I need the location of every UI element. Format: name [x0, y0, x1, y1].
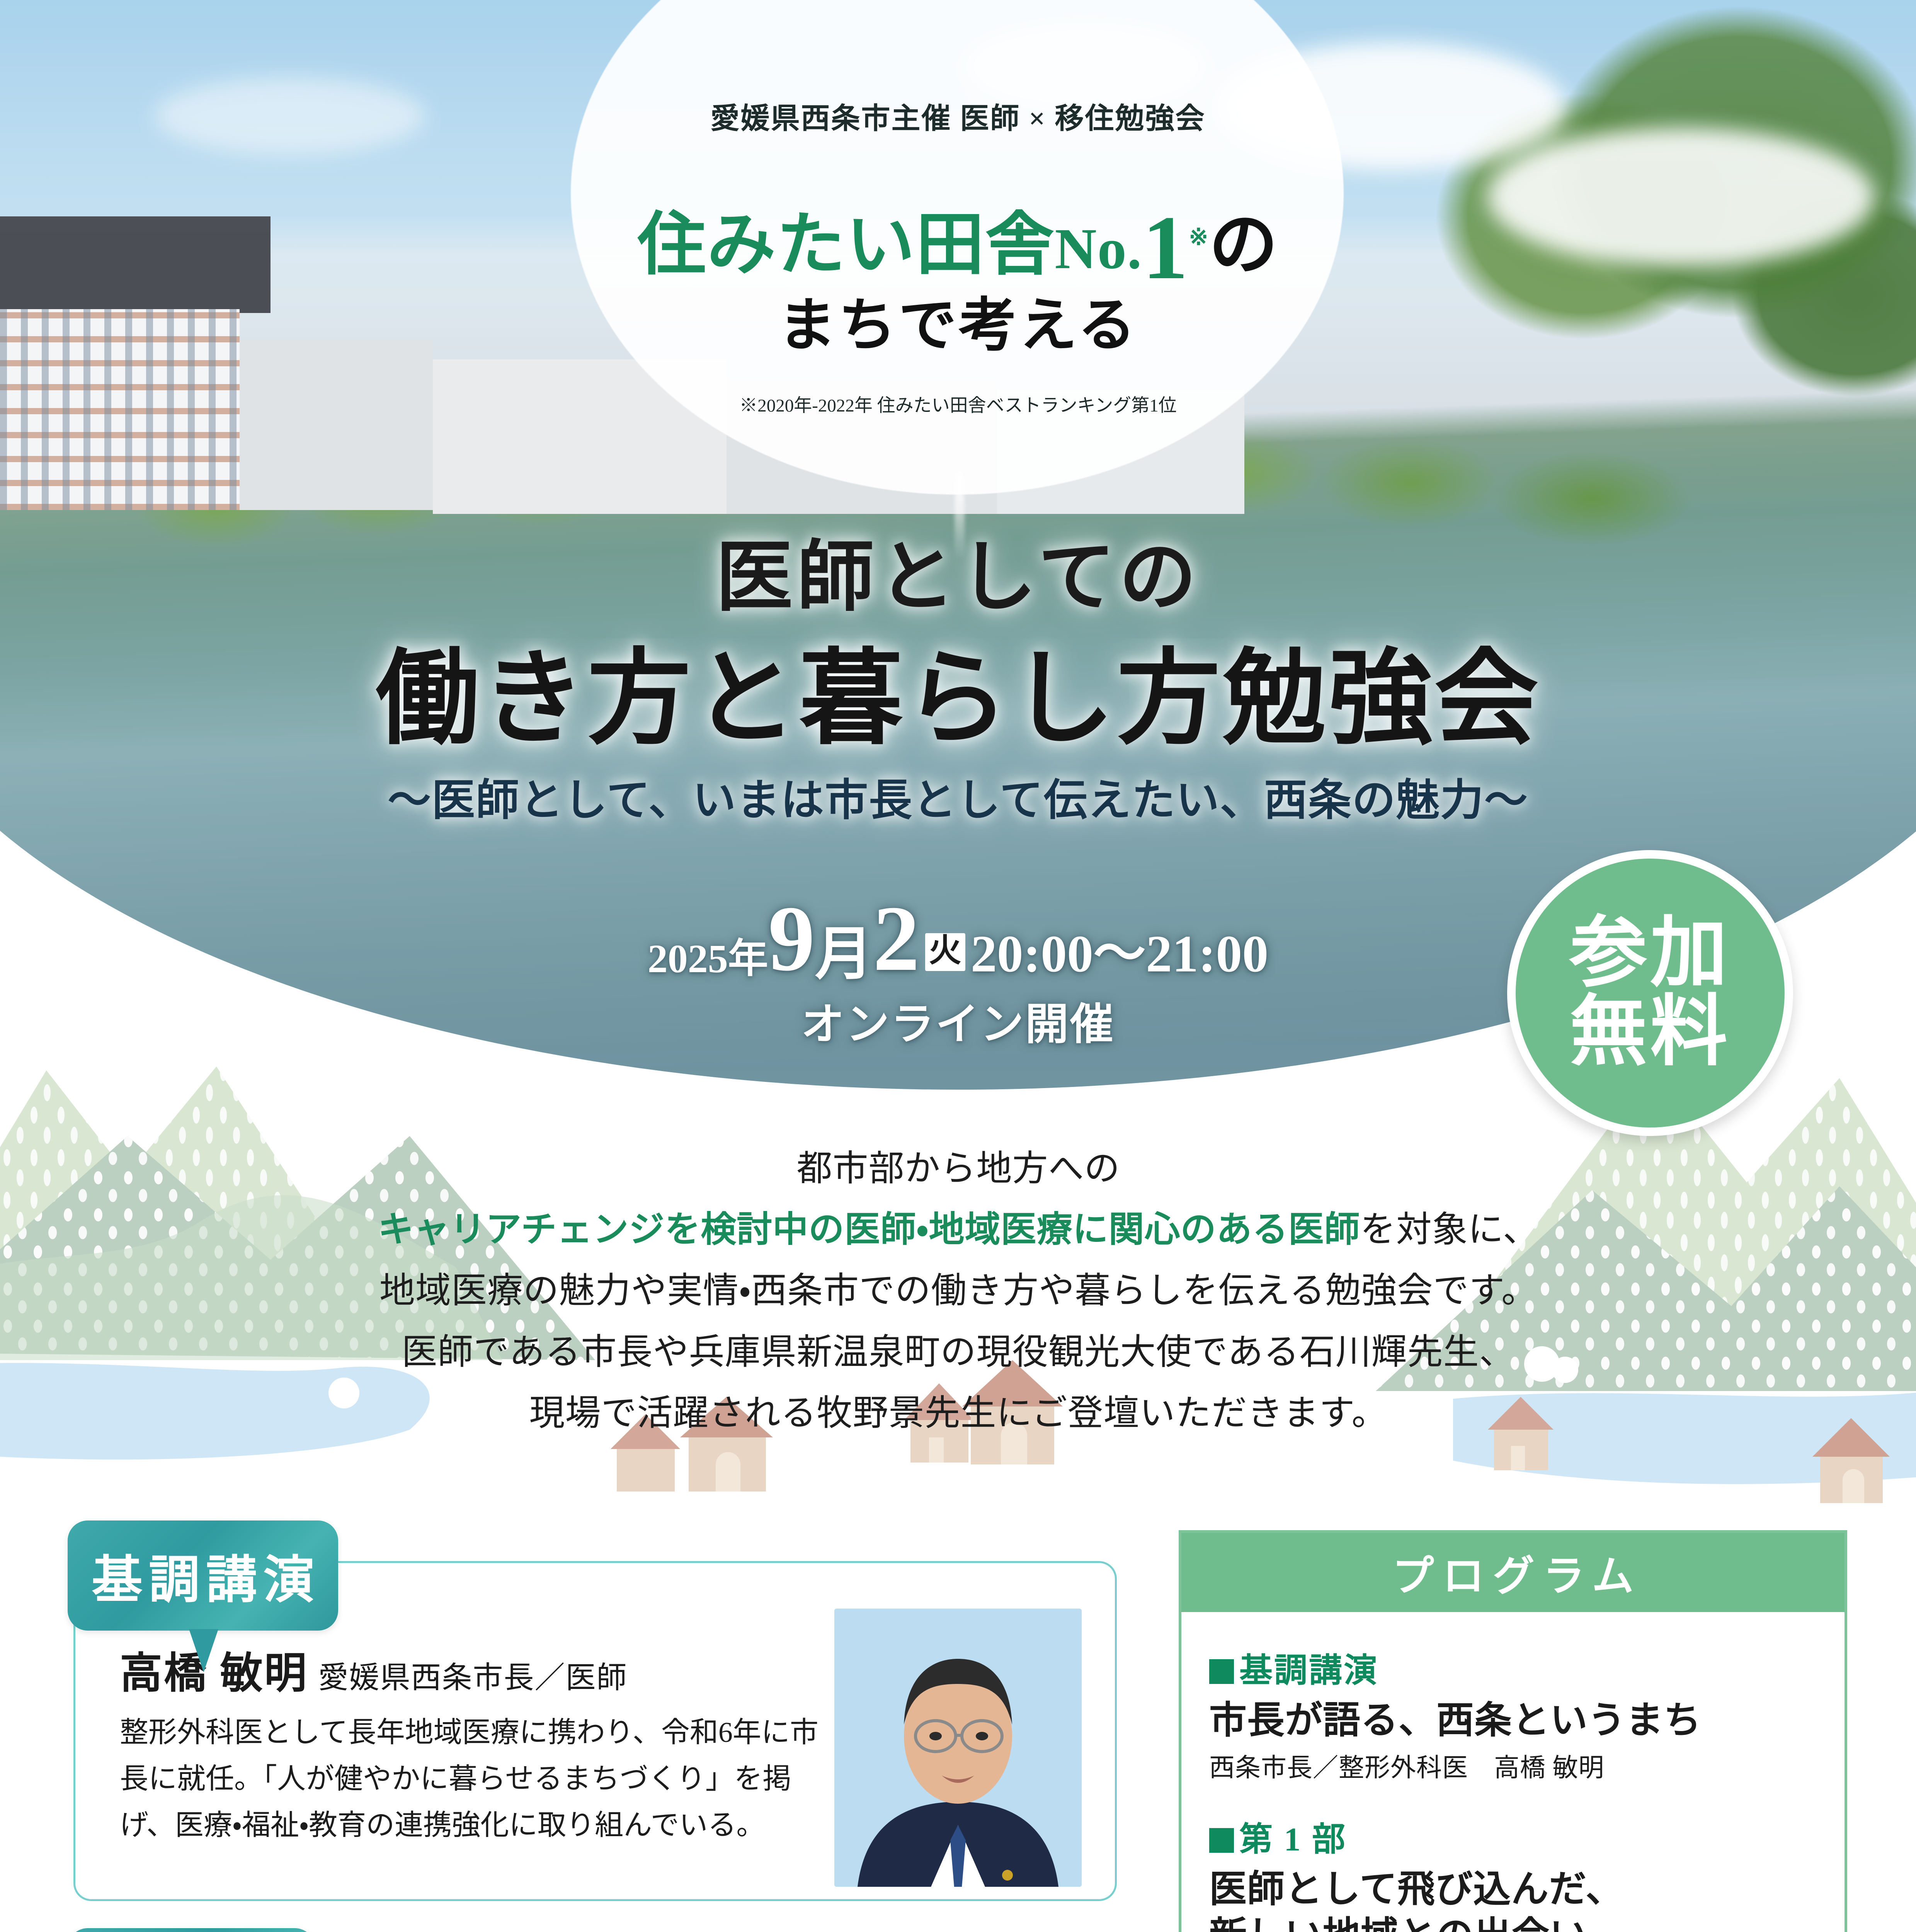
portrait-photo	[834, 1609, 1082, 1887]
speaker-tag-keynote: 基調講演	[68, 1520, 338, 1631]
square-bullet-icon	[1209, 1828, 1234, 1853]
speaker-card-keynote: 基調講演 高橋 敏明愛媛県西条市長／医師 整形外科医として長年地域医療に携わり、…	[73, 1561, 1117, 1901]
event-weekday: 火	[925, 933, 965, 971]
speaker-portrait-takahashi	[834, 1609, 1082, 1887]
event-month-number: 9	[768, 887, 815, 990]
program-body: 基調講演 市長が語る、西条というまち 西条市長／整形外科医 高橋 敏明 第 1 …	[1181, 1612, 1845, 1932]
event-time: 20:00〜21:00	[971, 925, 1269, 983]
description-line-5: 現場で活躍される牧野景先生にご登壇いただきます。	[193, 1383, 1724, 1444]
no1-prefix: 住みたい田舎	[637, 207, 1055, 283]
main-subtitle: ～医師として、いまは市長として伝えたい、西条の魅力～	[0, 765, 1916, 828]
hero-no1-line: 住みたい田舎No.1※の	[0, 185, 1916, 290]
program-item: 基調講演 市長が語る、西条というまち 西条市長／整形外科医 高橋 敏明	[1209, 1643, 1817, 1786]
program-item: 第 1 部 医師として飛び込んだ、新しい地域との出会い 本多病院 院長／新温泉町…	[1209, 1812, 1817, 1932]
flyer-page: 愛媛県西条市主催 医師 × 移住勉強会 住みたい田舎No.1※の まちで考える …	[0, 0, 1916, 1932]
main-title-line2: 働き方と暮らし方勉強会	[0, 614, 1916, 764]
hero-kicker: 愛媛県西条市主催 医師 × 移住勉強会	[0, 95, 1916, 137]
description-line-1: 都市部から地方への	[193, 1138, 1724, 1199]
program-item-speaker: 西条市長／整形外科医 高橋 敏明	[1209, 1750, 1817, 1786]
speaker-tag-lecturer: 講師	[68, 1928, 315, 1932]
square-bullet-icon	[1209, 1659, 1234, 1684]
speaker-bio: 整形外科医として長年地域医療に携わり、令和6年に市長に就任。「人が健やかに暮らせ…	[120, 1710, 839, 1849]
program-item-title: 医師として飛び込んだ、新しい地域との出会い	[1209, 1866, 1817, 1932]
program-item-title: 市長が語る、西条というまち	[1209, 1697, 1817, 1744]
event-year: 2025年	[648, 937, 768, 981]
program-heading-label: プログラム	[1384, 1543, 1642, 1603]
program-header: プログラム	[1181, 1533, 1845, 1612]
description-line-3: 地域医療の魅力や実情・西条市での働き方や暮らしを伝える勉強会です。	[193, 1260, 1724, 1321]
speaker-title: 愛媛県西条市長／医師	[318, 1661, 628, 1694]
badge-line2: 無料	[1570, 993, 1731, 1072]
program-item-kind: 基調講演	[1239, 1652, 1378, 1689]
program-panel: プログラム 基調講演 市長が語る、西条というまち 西条市長／整形外科医 高橋 敏…	[1179, 1530, 1847, 1932]
no1-asterisk: ※	[1189, 224, 1209, 250]
speaker-tag-label: 基調講演	[85, 1539, 320, 1612]
description-line-2: キャリアチェンジを検討中の医師・地域医療に関心のある医師を対象に、	[193, 1199, 1724, 1260]
description-line-2-rest: を対象に、	[1360, 1210, 1539, 1249]
free-participation-badge: 参加 無料	[1507, 850, 1793, 1136]
program-item-kind: 第 1 部	[1239, 1821, 1347, 1858]
badge-line1: 参加	[1570, 914, 1731, 993]
no1-no-label: No.	[1055, 217, 1142, 281]
event-day: 2	[873, 887, 920, 990]
description-line-4: 医師である市長や兵庫県新温泉町の現役観光大使である石川輝先生、	[193, 1321, 1724, 1383]
program-item-kind-row: 第 1 部	[1209, 1812, 1817, 1860]
hero-rank-note: ※2020年-2022年 住みたい田舎ベストランキング第1位	[0, 390, 1916, 417]
program-item-kind-row: 基調講演	[1209, 1643, 1817, 1691]
event-month-unit: 月	[815, 922, 873, 986]
hero-machi-line: まちで考える	[0, 278, 1916, 362]
description-highlight: キャリアチェンジを検討中の医師・地域医療に関心のある医師	[378, 1210, 1360, 1249]
no1-suffix: の	[1209, 207, 1279, 283]
description-block: 都市部から地方への キャリアチェンジを検討中の医師・地域医療に関心のある医師を対…	[193, 1138, 1724, 1444]
main-title-line1: 医師としての	[0, 514, 1916, 626]
portrait-illustration	[834, 1609, 1082, 1887]
